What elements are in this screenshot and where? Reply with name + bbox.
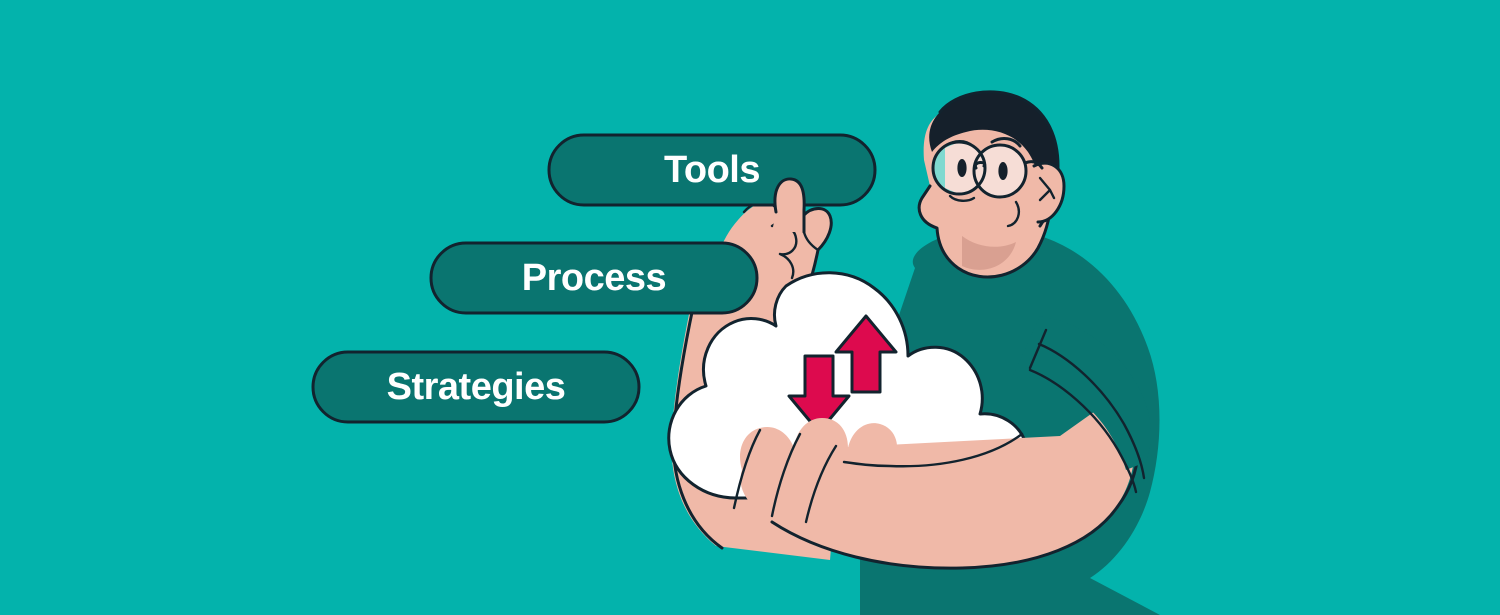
pointing-finger-overlay [0, 0, 1500, 615]
illustration-canvas: Tools Process Strategies [0, 0, 1500, 615]
